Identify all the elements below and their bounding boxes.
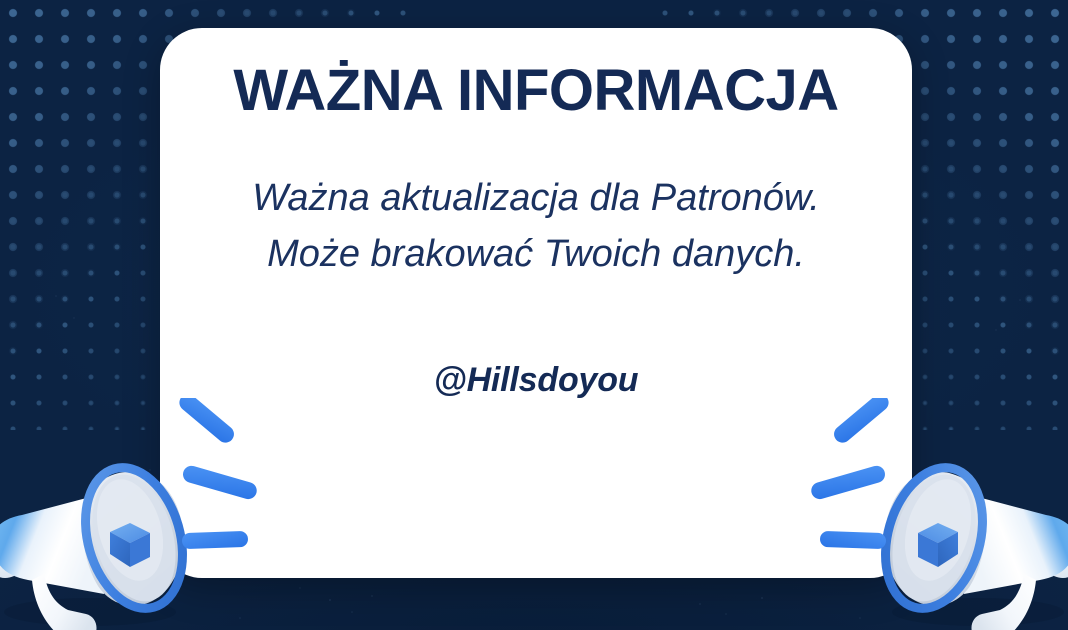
megaphone-body bbox=[0, 496, 104, 594]
megaphone-back-cap bbox=[0, 534, 18, 578]
social-handle: @Hillsdoyou bbox=[160, 283, 912, 400]
announcement-card: WAŻNA INFORMACJA Ważna aktualizacja dla … bbox=[160, 28, 912, 578]
megaphone-handle bbox=[971, 574, 1036, 630]
megaphone-driver-cube bbox=[918, 523, 958, 567]
megaphone-shadow bbox=[4, 598, 176, 626]
poster-canvas: WAŻNA INFORMACJA Ważna aktualizacja dla … bbox=[0, 0, 1068, 630]
megaphone-back-cap bbox=[1050, 534, 1068, 578]
megaphone-handle bbox=[32, 574, 97, 630]
megaphone-shadow bbox=[892, 598, 1064, 626]
body-text: Ważna aktualizacja dla Patronów. Może br… bbox=[176, 122, 896, 282]
megaphone-body bbox=[964, 496, 1068, 594]
body-line-2: Może brakować Twoich danych. bbox=[176, 226, 896, 282]
page-title: WAŻNA INFORMACJA bbox=[216, 28, 856, 122]
body-line-1: Ważna aktualizacja dla Patronów. bbox=[176, 170, 896, 226]
megaphone-driver-cube bbox=[110, 523, 150, 567]
